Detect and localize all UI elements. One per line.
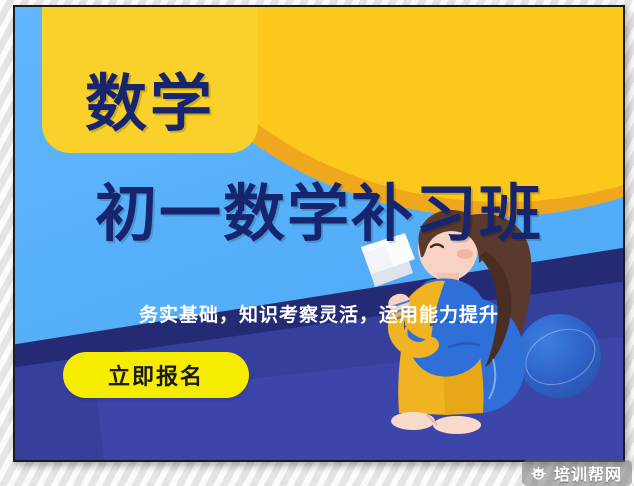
course-promo-poster: 数学 初一数学补习班 务实基础，知识考察灵活，运用能力提升 立即报名	[13, 5, 625, 462]
enroll-now-button-label: 立即报名	[108, 359, 204, 391]
screenshot-canvas: 数学 初一数学补习班 务实基础，知识考察灵活，运用能力提升 立即报名	[0, 0, 634, 486]
subject-badge: 数学	[42, 5, 258, 153]
watermark-text: 培训帮网	[554, 461, 622, 485]
sun-smiley-icon	[530, 465, 547, 482]
watermark: 培训帮网	[522, 460, 632, 486]
subject-badge-label: 数学	[85, 73, 215, 135]
page-title: 初一数学补习班	[15, 183, 623, 245]
enroll-now-button[interactable]: 立即报名	[63, 352, 249, 398]
poster-subtitle: 务实基础，知识考察灵活，运用能力提升	[15, 300, 623, 327]
